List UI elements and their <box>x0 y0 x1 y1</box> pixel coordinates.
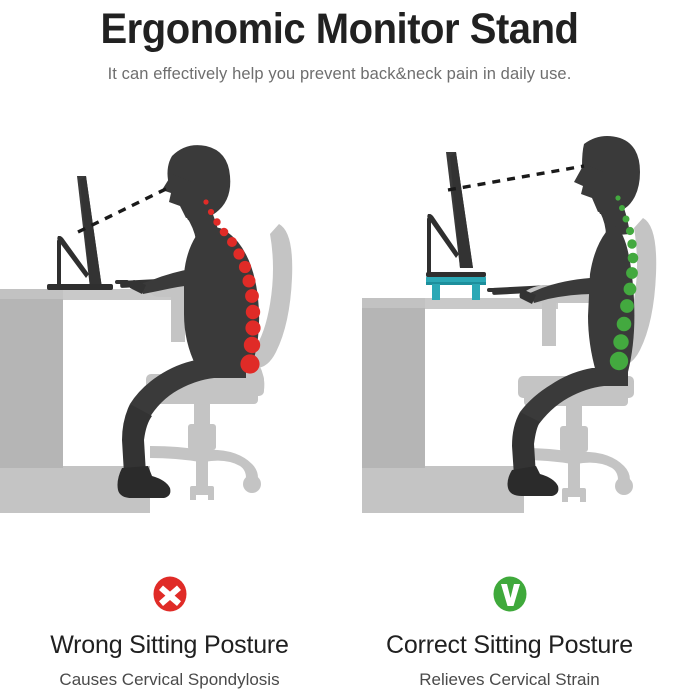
page-subtitle: It can effectively help you prevent back… <box>0 63 679 85</box>
sight-line-icon <box>448 166 584 190</box>
caption-row: Wrong Sitting Posture Causes Cervical Sp… <box>0 565 679 691</box>
caption-subtitle: Causes Cervical Spondylosis <box>0 669 339 691</box>
illustration-row <box>0 128 679 513</box>
product-infographic: Ergonomic Monitor Stand It can effective… <box>0 0 679 691</box>
caption-title: Correct Sitting Posture <box>340 630 679 660</box>
monitor-icon <box>47 176 113 290</box>
monitor-icon <box>426 152 486 277</box>
x-circle-icon <box>150 574 190 614</box>
check-circle-icon <box>490 574 530 614</box>
illustration-correct-posture <box>340 128 679 513</box>
caption-title: Wrong Sitting Posture <box>0 630 339 660</box>
header: Ergonomic Monitor Stand It can effective… <box>0 0 679 85</box>
caption-wrong-posture: Wrong Sitting Posture Causes Cervical Sp… <box>0 565 339 691</box>
page-title: Ergonomic Monitor Stand <box>24 4 655 54</box>
caption-correct-posture: Correct Sitting Posture Relieves Cervica… <box>340 565 679 691</box>
sight-line-icon <box>78 186 172 232</box>
monitor-stand-icon <box>426 276 486 300</box>
illustration-wrong-posture <box>0 128 339 513</box>
floor-icon <box>362 466 524 513</box>
caption-subtitle: Relieves Cervical Strain <box>340 669 679 691</box>
